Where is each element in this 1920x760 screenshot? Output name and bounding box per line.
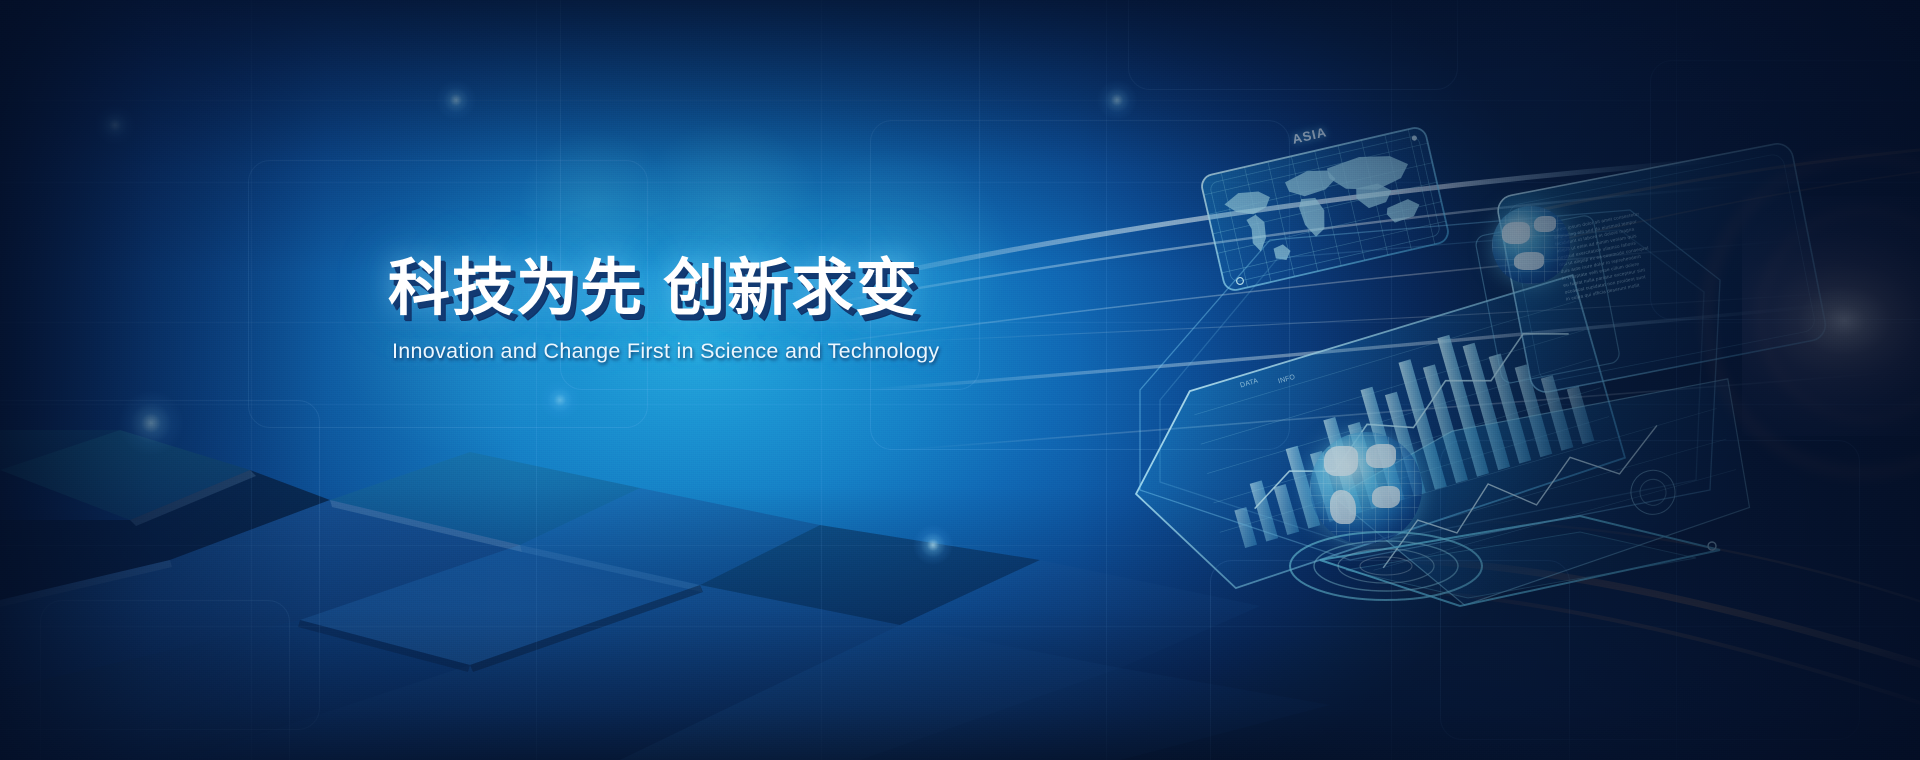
globe-base-rings (1256, 510, 1516, 630)
page-subtitle: Innovation and Change First in Science a… (392, 339, 908, 364)
hud-world-map-panel (1200, 126, 1451, 293)
wireframe-rect (40, 600, 290, 760)
glow-node (540, 380, 580, 420)
headline-block: 科技为先 创新求变 Innovation and Change First in… (388, 252, 908, 364)
glow-node (436, 80, 476, 120)
glow-node (913, 525, 953, 565)
tech-banner: ASIA Lorem ipsum dolor sit amet consecte… (0, 0, 1920, 760)
glow-node (95, 105, 135, 145)
glow-node (119, 391, 183, 455)
lens-flare-core (1742, 196, 1920, 436)
globe-upper (1492, 206, 1570, 284)
wireframe-rect (1128, 0, 1458, 90)
page-title: 科技为先 创新求变 (388, 252, 908, 326)
